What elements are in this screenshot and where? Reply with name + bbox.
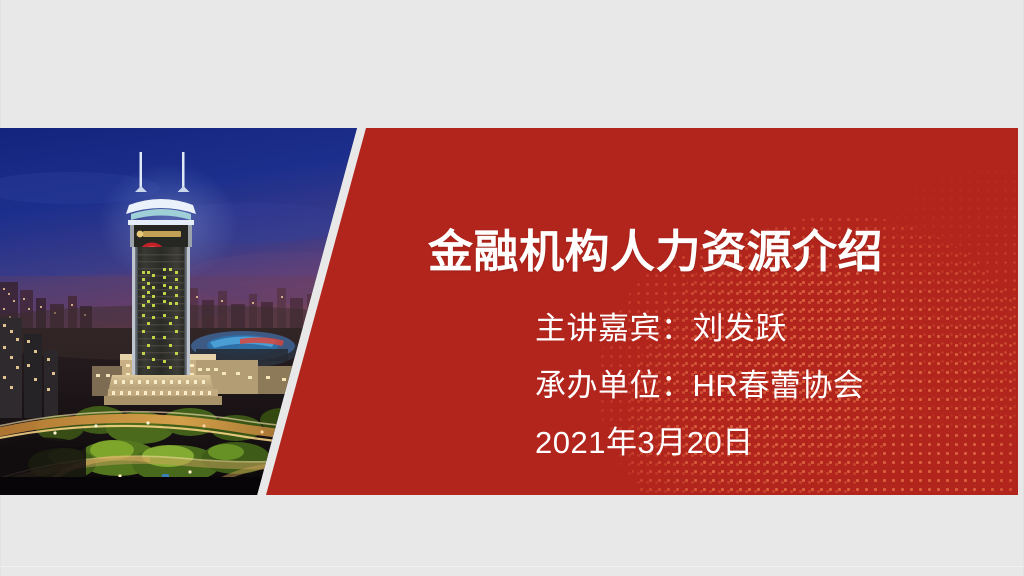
organizer-line: 承办单位：HR春蕾协会 [535,357,955,414]
slide-canvas: 金融机构人力资源介绍 主讲嘉宾：刘发跃 承办单位：HR春蕾协会 2021年3月2… [0,0,1024,576]
page-title: 金融机构人力资源介绍 [428,226,908,278]
subtitle-block: 主讲嘉宾：刘发跃 承办单位：HR春蕾协会 2021年3月20日 [535,300,955,471]
speaker-line: 主讲嘉宾：刘发跃 [535,300,955,357]
date-line: 2021年3月20日 [535,414,955,471]
page-bottom-hairline [0,566,1024,567]
